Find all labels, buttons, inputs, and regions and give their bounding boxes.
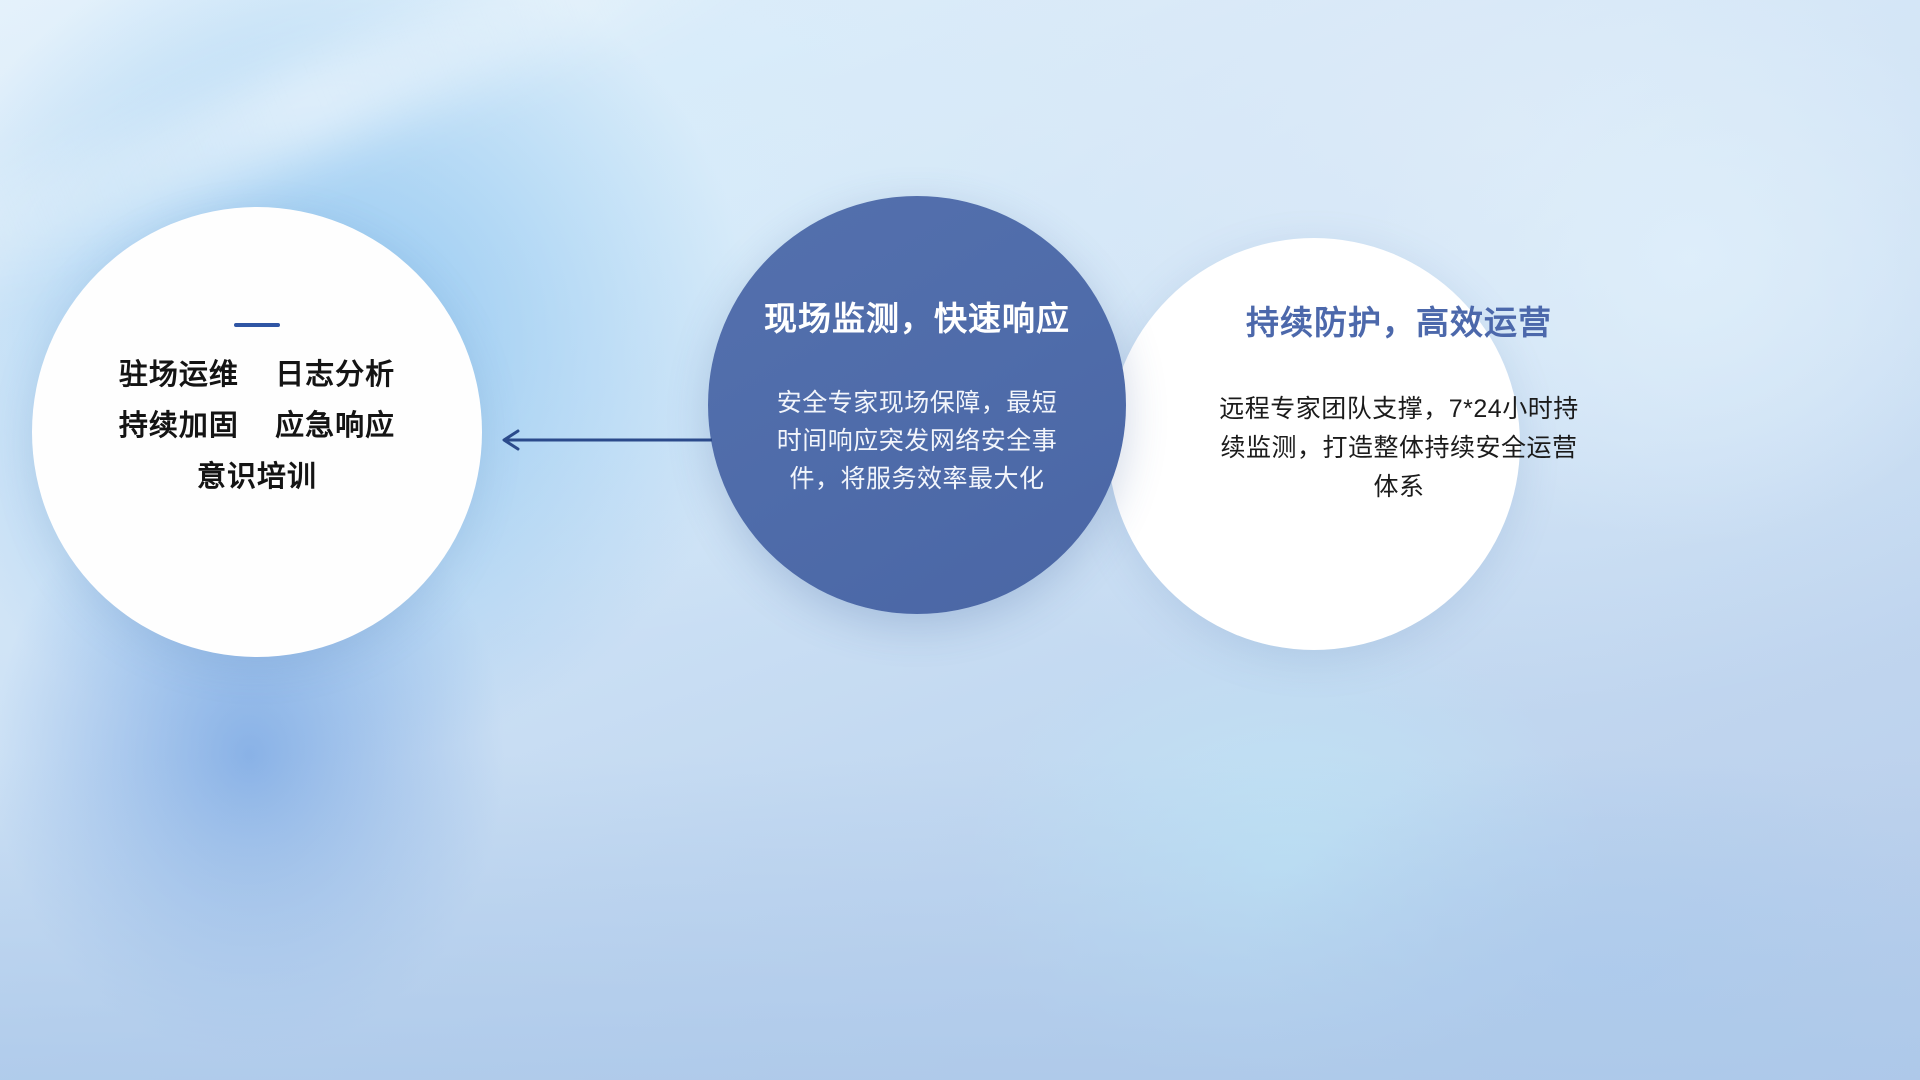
divider-dash-icon	[234, 323, 280, 327]
capability-line-1: 驻场运维 日志分析	[119, 361, 395, 390]
right-operations-circle	[1108, 238, 1520, 650]
capability-line-3: 意识培训	[119, 463, 395, 492]
middle-circle-title: 现场监测，快速响应	[764, 292, 1070, 340]
capability-line-2: 持续加固 应急响应	[119, 412, 395, 441]
background-bottom-band	[0, 756, 1920, 1080]
middle-circle-body: 安全专家现场保障，最短时间响应突发网络安全事件，将服务效率最大化	[772, 384, 1062, 498]
left-circle-capability-list: 驻场运维 日志分析 持续加固 应急响应 意识培训	[119, 361, 395, 492]
middle-onsite-circle: 现场监测，快速响应 安全专家现场保障，最短时间响应突发网络安全事件，将服务效率最…	[708, 196, 1126, 614]
arrow-left-icon	[492, 424, 714, 456]
left-capability-circle: 驻场运维 日志分析 持续加固 应急响应 意识培训	[32, 207, 482, 657]
